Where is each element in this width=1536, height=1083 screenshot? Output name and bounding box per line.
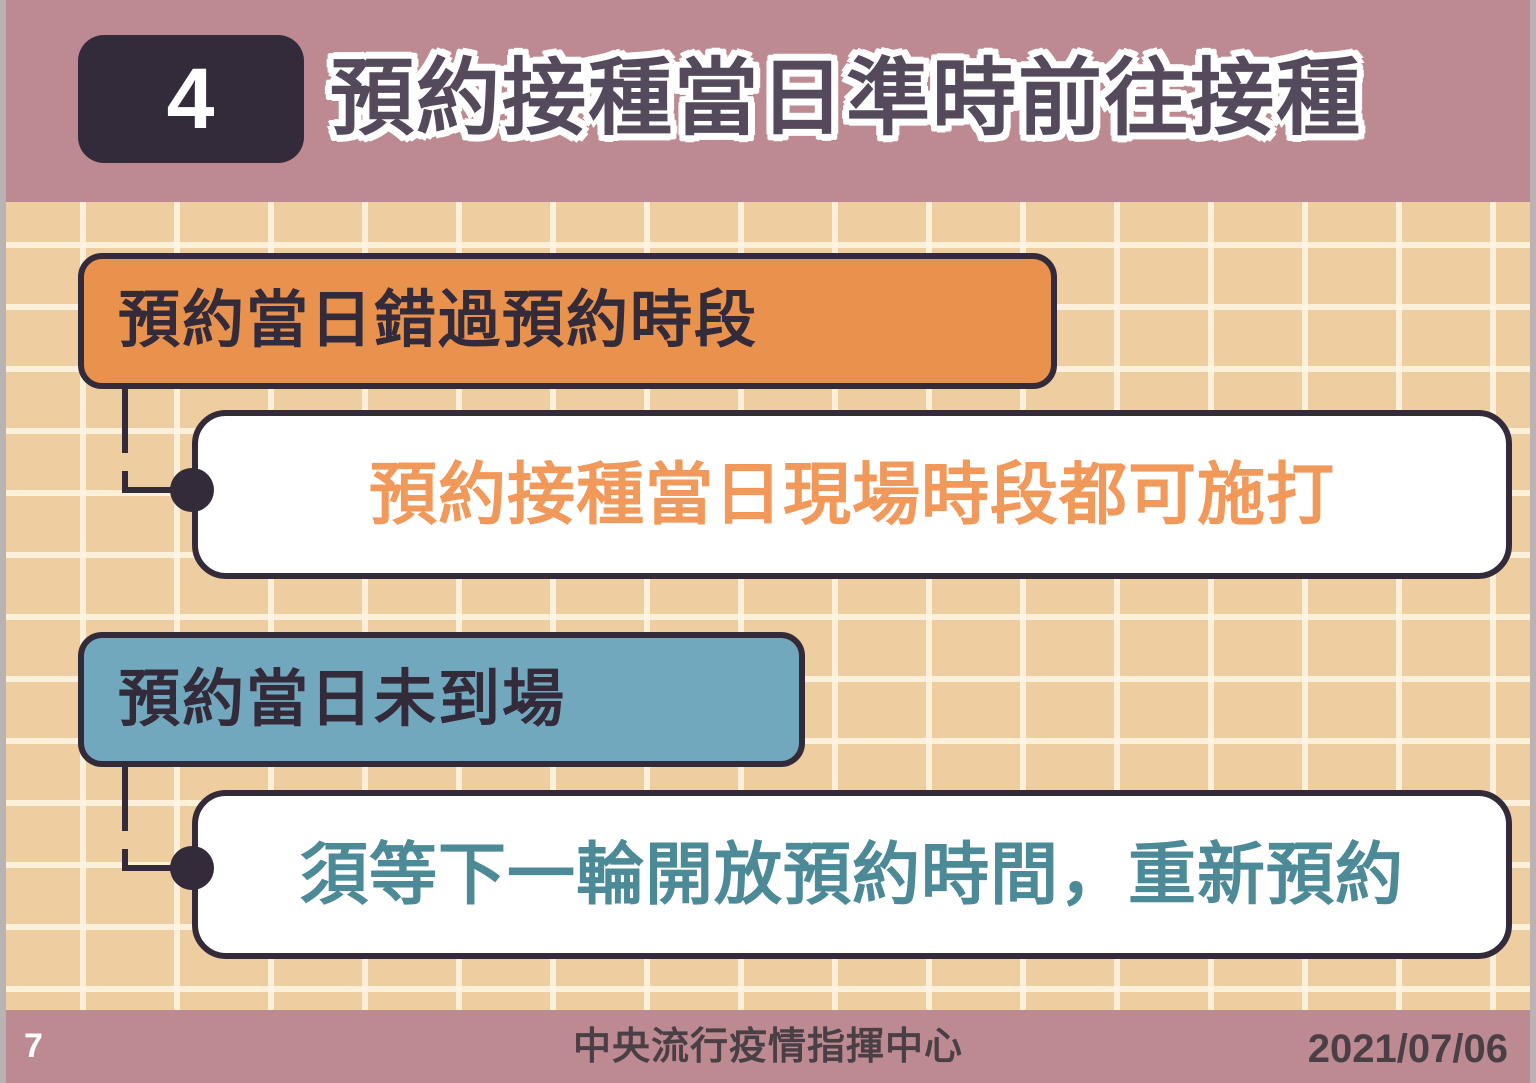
page-edge-left	[0, 0, 6, 1083]
connector-teal-dashes-vertical	[122, 805, 128, 849]
connector-orange-corner-horizontal	[122, 487, 148, 493]
detail-box-no-show: 須等下一輪開放預約時間，重新預約	[192, 790, 1512, 959]
detail-box-missed-slot: 預約接種當日現場時段都可施打	[192, 410, 1512, 579]
connector-orange-dashes-vertical	[122, 427, 128, 471]
connector-orange-dot	[170, 468, 214, 512]
category-label-missed-slot: 預約當日錯過預約時段	[84, 290, 758, 352]
detail-text-no-show: 須等下一輪開放預約時間，重新預約	[300, 841, 1404, 909]
category-label-no-show: 預約當日未到場	[84, 669, 566, 731]
connector-teal-corner-horizontal	[122, 865, 148, 871]
footer-band: 7 中央流行疫情指揮中心 2021/07/06	[0, 1010, 1536, 1083]
category-box-no-show: 預約當日未到場	[78, 632, 805, 767]
connector-orange-stem	[122, 389, 128, 427]
step-number-badge: 4	[78, 35, 304, 163]
slide-canvas: 4 預約接種當日準時前往接種 預約當日錯過預約時段 預約接種當日現場時段都可施打…	[0, 0, 1536, 1083]
category-box-missed-slot: 預約當日錯過預約時段	[78, 253, 1057, 389]
page-edge-right	[1530, 0, 1536, 1083]
detail-text-missed-slot: 預約接種當日現場時段都可施打	[369, 461, 1335, 529]
connector-teal-dot	[170, 846, 214, 890]
step-number-label: 4	[167, 56, 216, 142]
footer-organization: 中央流行疫情指揮中心	[0, 1024, 1536, 1072]
connector-teal-stem	[122, 767, 128, 805]
page-title: 預約接種當日準時前往接種	[330, 34, 1362, 162]
footer-date: 2021/07/06	[1308, 1024, 1508, 1074]
